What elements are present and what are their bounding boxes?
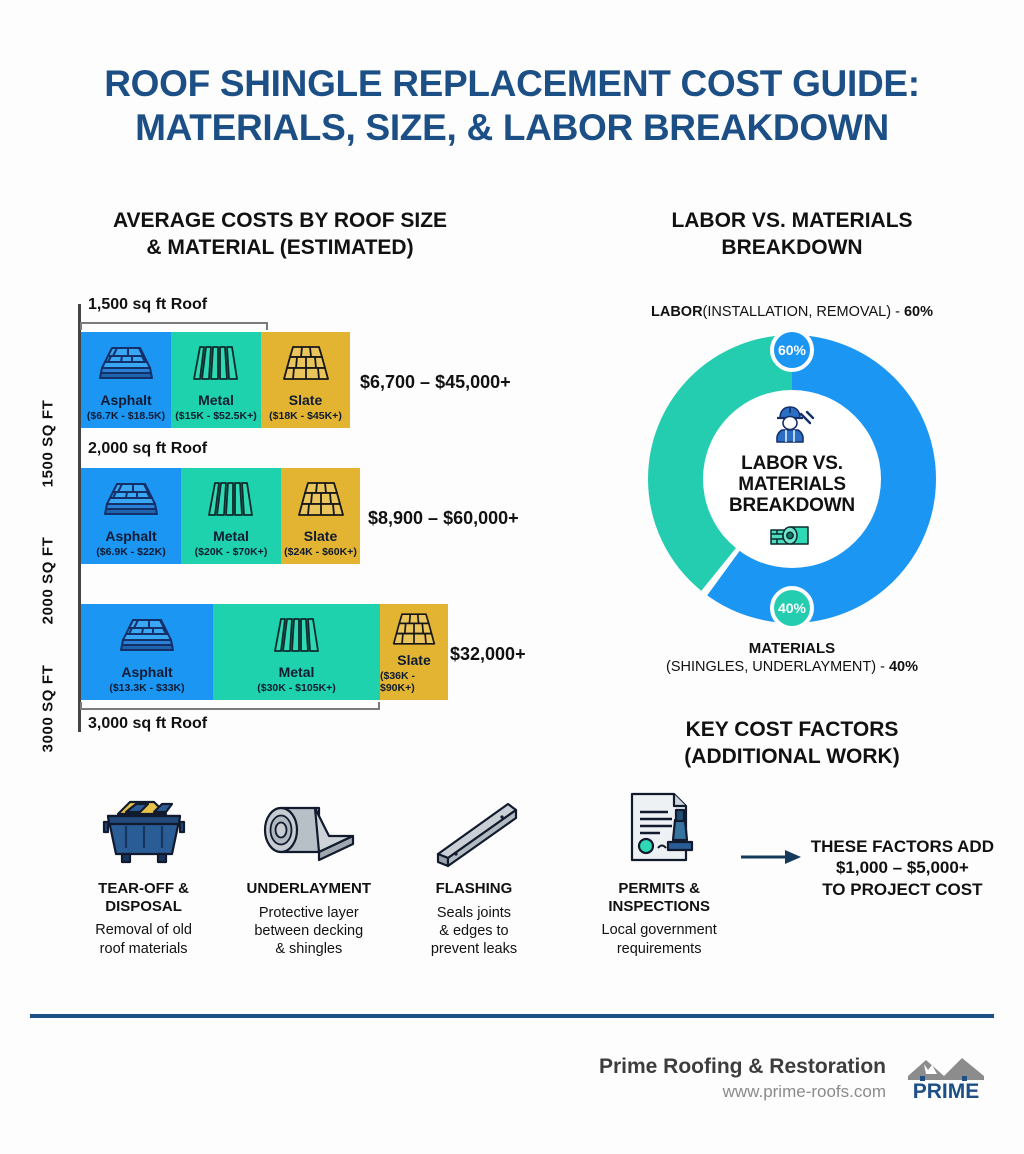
segment-name-slate-2000: Slate (304, 529, 337, 544)
row-caption-3000: 3,000 sq ft Roof (88, 715, 207, 733)
segment-range-metal-2000: ($20K - $70K+) (195, 546, 268, 558)
factor-desc-1-line-2: roof materials (62, 940, 225, 958)
infographic-page: ROOF SHINGLE REPLACEMENT COST GUIDE: MAT… (0, 0, 1024, 1154)
factors-callout: THESE FACTORS ADD $1,000 – $5,000+ TO PR… (741, 836, 994, 958)
donut-badge-labor: 60% (770, 328, 814, 372)
bar-row-3000: Asphalt ($13.3K - $33K) (81, 604, 448, 700)
bar-segment-metal-2000[interactable]: Metal ($20K - $70K+) (181, 468, 281, 564)
metal-panel-icon (213, 604, 380, 666)
title-line-1: ROOF SHINGLE REPLACEMENT COST GUIDE: (0, 62, 1024, 106)
donut-heading: LABOR VS. MATERIALS BREAKDOWN (560, 208, 1024, 262)
bar-row-2000: Asphalt ($6.9K - $22K) (81, 468, 360, 564)
factor-desc-3-line-3: prevent leaks (392, 940, 555, 958)
slate-tile-icon (281, 468, 360, 530)
footer-divider (30, 1014, 994, 1018)
key-cost-factors-line-1: KEY COST FACTORS (560, 717, 1024, 744)
legend-materials-key: MATERIALS (560, 640, 1024, 657)
donut-center-line-2: MATERIALS (738, 474, 846, 495)
metal-panel-icon (171, 332, 261, 394)
factor-desc-2-line-1: Protective layer (227, 904, 390, 922)
factor-label-2-line-1: UNDERLAYMENT (227, 880, 390, 898)
callout-line-2: $1,000 – $5,000+ (811, 857, 994, 878)
donut-center-line-1: LABOR VS. (741, 453, 843, 474)
donut-center-line-3: BREAKDOWN (729, 495, 855, 516)
donut-chart: LABOR VS. MATERIALS BREAKDOWN (647, 334, 937, 624)
segment-name-metal-3000: Metal (279, 665, 315, 680)
factor-desc-3-line-1: Seals joints (392, 904, 555, 922)
segment-name-asphalt-2000: Asphalt (105, 529, 156, 544)
legend-labor-percent: 60% (904, 304, 933, 320)
y-tick-label-2000: 2000 SQ FT (40, 530, 57, 630)
slate-tile-icon (261, 332, 350, 394)
bar-chart-heading-line-1: AVERAGE COSTS BY ROOF SIZE (0, 208, 560, 235)
segment-range-slate-2000: ($24K - $60K+) (284, 546, 357, 558)
factor-tear-off-disposal[interactable]: TEAR-OFF & DISPOSAL Removal of old roof … (62, 782, 225, 958)
row-caption-2000: 2,000 sq ft Roof (88, 440, 207, 458)
bar-segment-asphalt-3000[interactable]: Asphalt ($13.3K - $33K) (81, 604, 213, 700)
segment-name-slate-1500: Slate (289, 393, 322, 408)
arrow-right-icon (741, 848, 803, 871)
bar-segment-slate-1500[interactable]: Slate ($18K - $45K+) (261, 332, 350, 428)
segment-range-slate-3000: ($36K - $90K+) (380, 670, 448, 694)
page-title: ROOF SHINGLE REPLACEMENT COST GUIDE: MAT… (0, 62, 1024, 149)
flashing-metal-icon (392, 782, 555, 870)
prime-logo-text: PRIME (913, 1080, 980, 1102)
segment-range-metal-1500: ($15K - $52.5K+) (175, 410, 256, 422)
asphalt-shingle-icon (81, 468, 181, 530)
factor-label-3-line-1: FLASHING (392, 880, 555, 898)
footer: Prime Roofing & Restoration www.prime-ro… (0, 1050, 1024, 1107)
segment-range-metal-3000: ($30K - $105K+) (257, 682, 336, 694)
segment-name-asphalt-1500: Asphalt (100, 393, 151, 408)
bar-chart-section: AVERAGE COSTS BY ROOF SIZE & MATERIAL (E… (0, 208, 560, 755)
factor-desc-4-line-2: requirements (578, 940, 741, 958)
callout-line-3: TO PROJECT COST (811, 879, 994, 900)
segment-name-metal-2000: Metal (213, 529, 249, 544)
factor-underlayment[interactable]: UNDERLAYMENT Protective layer between de… (227, 782, 390, 958)
metal-panel-icon (181, 468, 281, 530)
donut-legend-materials: MATERIALS (SHINGLES, UNDERLAYMENT) - 40% (560, 640, 1024, 675)
callout-text: THESE FACTORS ADD $1,000 – $5,000+ TO PR… (811, 836, 994, 900)
asphalt-shingle-icon (81, 332, 171, 394)
factor-label-4-line-2: INSPECTIONS (578, 898, 741, 916)
bar-chart-heading-line-2: & MATERIAL (ESTIMATED) (0, 235, 560, 262)
bar-segment-slate-2000[interactable]: Slate ($24K - $60K+) (281, 468, 360, 564)
footer-company-name: Prime Roofing & Restoration (599, 1055, 886, 1079)
bar-total-2000: $8,900 – $60,000+ (368, 508, 519, 529)
bar-chart-plot: 1500 SQ FT 2000 SQ FT 3000 SQ FT 1,500 s… (0, 300, 560, 755)
bar-total-1500: $6,700 – $45,000+ (360, 372, 511, 393)
bracket-1500 (80, 322, 268, 330)
prime-logo: PRIME (904, 1050, 988, 1107)
bar-chart-heading: AVERAGE COSTS BY ROOF SIZE & MATERIAL (E… (0, 208, 560, 262)
bar-segment-metal-1500[interactable]: Metal ($15K - $52.5K+) (171, 332, 261, 428)
donut-center-label: LABOR VS. MATERIALS BREAKDOWN (703, 390, 881, 568)
factor-label-4-line-1: PERMITS & (578, 880, 741, 898)
segment-range-slate-1500: ($18K - $45K+) (269, 410, 342, 422)
dumpster-icon (62, 782, 225, 870)
factor-desc-1-line-1: Removal of old (62, 921, 225, 939)
factor-label-1-line-2: DISPOSAL (62, 898, 225, 916)
cost-factors-row: TEAR-OFF & DISPOSAL Removal of old roof … (0, 782, 1024, 958)
segment-range-asphalt-3000: ($13.3K - $33K) (109, 682, 184, 694)
permit-stamp-icon (578, 782, 741, 870)
slate-tile-icon (380, 604, 448, 654)
segment-name-metal-1500: Metal (198, 393, 234, 408)
legend-materials-detail: (SHINGLES, UNDERLAYMENT) - (666, 659, 889, 675)
y-tick-label-1500: 1500 SQ FT (40, 393, 57, 493)
donut-chart-section: LABOR VS. MATERIALS BREAKDOWN LABOR(INST… (560, 208, 1024, 771)
bar-row-1500: Asphalt ($6.7K - $18.5K) (81, 332, 350, 428)
factor-permits-inspections[interactable]: PERMITS & INSPECTIONS Local government r… (578, 782, 741, 958)
factor-label-1-line-1: TEAR-OFF & (62, 880, 225, 898)
underlayment-roll-icon (227, 782, 390, 870)
title-line-2: MATERIALS, SIZE, & LABOR BREAKDOWN (0, 106, 1024, 150)
factor-desc-2-line-2: between decking (227, 922, 390, 940)
bar-total-3000: $32,000+ (450, 644, 526, 665)
bar-segment-slate-3000[interactable]: Slate ($36K - $90K+) (380, 604, 448, 700)
factor-desc-2-line-3: & shingles (227, 940, 390, 958)
row-caption-1500: 1,500 sq ft Roof (88, 296, 207, 314)
key-cost-factors-heading: KEY COST FACTORS (ADDITIONAL WORK) (560, 717, 1024, 771)
y-tick-label-3000: 3000 SQ FT (40, 658, 57, 758)
materials-roll-icon (768, 521, 816, 554)
key-cost-factors-line-2: (ADDITIONAL WORK) (560, 744, 1024, 771)
donut-badge-materials-value: 40% (778, 600, 806, 616)
bracket-3000 (80, 702, 380, 710)
donut-heading-line-1: LABOR VS. MATERIALS (560, 208, 1024, 235)
segment-name-asphalt-3000: Asphalt (121, 665, 172, 680)
legend-materials-percent: 40% (889, 659, 918, 675)
segment-range-asphalt-2000: ($6.9K - $22K) (96, 546, 165, 558)
worker-icon (769, 404, 815, 449)
donut-legend-labor: LABOR(INSTALLATION, REMOVAL) - 60% (560, 304, 1024, 320)
factor-desc-3-line-2: & edges to (392, 922, 555, 940)
bar-segment-metal-3000[interactable]: Metal ($30K - $105K+) (213, 604, 380, 700)
bar-segment-asphalt-1500[interactable]: Asphalt ($6.7K - $18.5K) (81, 332, 171, 428)
segment-range-asphalt-1500: ($6.7K - $18.5K) (87, 410, 165, 422)
asphalt-shingle-icon (81, 604, 213, 666)
footer-website-url[interactable]: www.prime-roofs.com (599, 1082, 886, 1102)
donut-badge-labor-value: 60% (778, 342, 806, 358)
donut-badge-materials: 40% (770, 586, 814, 630)
bar-segment-asphalt-2000[interactable]: Asphalt ($6.9K - $22K) (81, 468, 181, 564)
legend-labor-detail: (INSTALLATION, REMOVAL) - (703, 304, 904, 320)
factor-desc-4-line-1: Local government (578, 921, 741, 939)
legend-labor-key: LABOR (651, 304, 703, 320)
donut-heading-line-2: BREAKDOWN (560, 235, 1024, 262)
callout-line-1: THESE FACTORS ADD (811, 836, 994, 857)
segment-name-slate-3000: Slate (397, 653, 430, 668)
factor-flashing[interactable]: FLASHING Seals joints & edges to prevent… (392, 782, 555, 958)
